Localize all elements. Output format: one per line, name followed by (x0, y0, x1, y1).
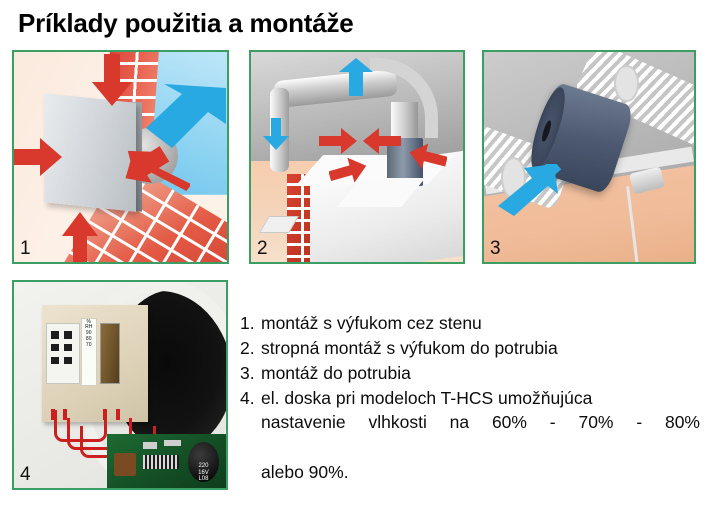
list-item-line: el. doska pri modeloch T-HCS umožňujúca (261, 386, 700, 411)
humidity-trim-potentiometer[interactable] (100, 323, 120, 384)
list-item-line: nastavenie vlhkosti na 60% - 70% - 80% (261, 410, 700, 460)
electrolytic-capacitor: 220 16V L08 (188, 442, 219, 482)
dip-switch-2[interactable] (64, 331, 72, 338)
resistor-array (143, 455, 179, 469)
intake-arrow-left (14, 138, 62, 176)
page-title: Príklady použitia a montáže (18, 8, 354, 39)
dip-switch-1[interactable] (51, 331, 59, 338)
scale-tick-70: 70 (82, 343, 96, 349)
transformer-coil (114, 453, 135, 477)
intake-arrow-c (329, 158, 367, 184)
panel-badge-4: 4 (20, 464, 31, 486)
illustration-panel-3: 3 (482, 50, 696, 264)
exhaust-arrow-top (339, 58, 373, 96)
wall-mounted-fan-scene (14, 52, 227, 262)
dip-switch-3[interactable] (51, 344, 59, 351)
exhaust-arrow (142, 80, 226, 152)
intake-arrow-b (363, 128, 401, 154)
instruction-list: 1. montáž s výfukom cez stenu 2. stropná… (240, 311, 700, 485)
control-board-scene: % RH 90 80 70 220 16V L08 (14, 282, 226, 488)
panel-badge-2: 2 (257, 238, 268, 260)
list-item-text: montáž s výfukom cez stenu (261, 311, 700, 336)
list-item-number: 3. (240, 361, 261, 386)
panel-badge-3: 3 (490, 238, 501, 260)
intake-arrow-top (92, 54, 132, 106)
fan-motor-hub (540, 120, 552, 143)
dip-switch-block[interactable] (46, 323, 80, 384)
smd-component-b (164, 440, 181, 446)
dip-switch-4[interactable] (64, 344, 72, 351)
humidity-scale-label: % RH 90 80 70 (81, 318, 97, 386)
intake-arrow-a (319, 128, 357, 154)
exhaust-arrow-left (263, 118, 289, 150)
list-item-number: 1. (240, 311, 261, 336)
illustration-panel-4: % RH 90 80 70 220 16V L08 (12, 280, 228, 490)
list-item-number: 2. (240, 336, 261, 361)
humidity-control-pcb: % RH 90 80 70 (42, 305, 148, 422)
illustration-panel-1: 1 (12, 50, 229, 264)
list-item: 1. montáž s výfukom cez stenu (240, 311, 700, 336)
list-item-text: montáž do potrubia (261, 361, 700, 386)
smd-component-a (143, 442, 157, 449)
list-item-text-block: el. doska pri modeloch T-HCS umožňujúca … (261, 386, 700, 485)
panel-badge-1: 1 (20, 238, 31, 260)
list-item: 3. montáž do potrubia (240, 361, 700, 386)
illustration-panel-2: 2 (249, 50, 465, 264)
capacitor-code-label: L08 (188, 476, 219, 482)
dip-switch-6[interactable] (64, 357, 72, 364)
list-item: 4. el. doska pri modeloch T-HCS umožňujú… (240, 386, 700, 485)
power-supply-pcb: 220 16V L08 (107, 434, 226, 488)
intake-arrow-d (409, 144, 447, 170)
inline-duct-fan-scene (484, 52, 694, 262)
list-item: 2. stropná montáž s výfukom do potrubia (240, 336, 700, 361)
list-item-number: 4. (240, 386, 261, 411)
dip-switch-5[interactable] (51, 357, 59, 364)
exhaust-arrow (498, 164, 564, 220)
list-item-text: stropná montáž s výfukom do potrubia (261, 336, 700, 361)
list-item-line: alebo 90%. (261, 460, 700, 485)
ceiling-duct-scene (251, 52, 463, 262)
intake-arrow-bottom (62, 212, 98, 264)
